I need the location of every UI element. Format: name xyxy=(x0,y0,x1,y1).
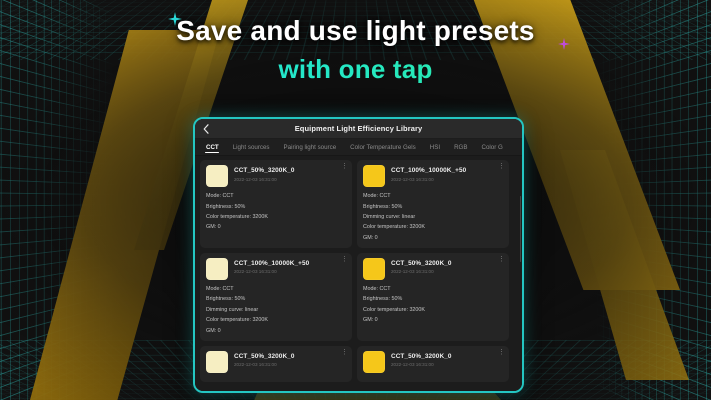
preset-detail-row: Brightness: 50% xyxy=(206,201,346,211)
preset-card[interactable]: CCT_50%_3200K_02022-12-03 16:31:00⋮ xyxy=(200,346,352,382)
tab-color-g[interactable]: Color G xyxy=(474,139,509,155)
color-swatch xyxy=(363,351,385,373)
scrollbar[interactable] xyxy=(520,196,522,262)
tab-label: CCT xyxy=(206,144,219,151)
preset-detail-row: Color temperature: 3200K xyxy=(363,222,503,232)
preset-card-heading-text: CCT_50%_3200K_02022-12-03 16:31:00 xyxy=(234,165,346,182)
preset-detail-rows: Mode: CCTBrightness: 50%Dimming curve: l… xyxy=(206,284,346,336)
color-swatch xyxy=(363,165,385,187)
preset-detail-row: Color temperature: 3200K xyxy=(363,305,503,315)
color-swatch xyxy=(363,258,385,280)
preset-title: CCT_100%_10000K_+50 xyxy=(391,167,503,174)
more-vertical-icon[interactable]: ⋮ xyxy=(341,351,347,355)
preset-timestamp: 2022-12-03 16:31:00 xyxy=(234,362,346,367)
color-swatch xyxy=(206,258,228,280)
preset-detail-rows: Mode: CCTBrightness: 50%Dimming curve: l… xyxy=(363,191,503,243)
preset-card-header: CCT_50%_3200K_02022-12-03 16:31:00 xyxy=(206,165,346,187)
preset-detail-row: Dimming curve: linear xyxy=(206,305,346,315)
chevron-left-icon xyxy=(203,124,209,134)
tab-bar[interactable]: CCTLight sourcesPairing light sourceColo… xyxy=(195,139,522,156)
preset-card-header: CCT_50%_3200K_02022-12-03 16:31:00 xyxy=(206,351,346,373)
preset-card-heading-text: CCT_100%_10000K_+502022-12-03 16:31:00 xyxy=(391,165,503,182)
more-vertical-icon[interactable]: ⋮ xyxy=(498,351,504,355)
preset-detail-row: Color temperature: 3200K xyxy=(206,315,346,325)
preset-card-header: CCT_50%_3200K_02022-12-03 16:31:00 xyxy=(363,258,503,280)
preset-detail-row: Dimming curve: linear xyxy=(363,212,503,222)
tab-label: Pairing light source xyxy=(284,144,337,151)
preset-card-header: CCT_100%_10000K_+502022-12-03 16:31:00 xyxy=(363,165,503,187)
preset-card-header: CCT_50%_3200K_02022-12-03 16:31:00 xyxy=(363,351,503,373)
tab-label: RGB xyxy=(454,144,467,151)
preset-title: CCT_100%_10000K_+50 xyxy=(234,260,346,267)
tab-label: HSI xyxy=(430,144,440,151)
preset-card[interactable]: CCT_100%_10000K_+502022-12-03 16:31:00⋮M… xyxy=(357,160,509,248)
preset-card-heading-text: CCT_50%_3200K_02022-12-03 16:31:00 xyxy=(391,258,503,275)
color-swatch xyxy=(206,351,228,373)
preset-title: CCT_50%_3200K_0 xyxy=(391,260,503,267)
preset-detail-row: Mode: CCT xyxy=(363,284,503,294)
preset-detail-row: Brightness: 50% xyxy=(363,294,503,304)
more-vertical-icon[interactable]: ⋮ xyxy=(498,258,504,262)
preset-timestamp: 2022-12-03 16:31:00 xyxy=(391,362,503,367)
preset-detail-rows: Mode: CCTBrightness: 50%Color temperatur… xyxy=(363,284,503,326)
more-vertical-icon[interactable]: ⋮ xyxy=(341,165,347,169)
preset-card-heading-text: CCT_100%_10000K_+502022-12-03 16:31:00 xyxy=(234,258,346,275)
sparkle-icon-left xyxy=(168,12,182,26)
preset-detail-row: Mode: CCT xyxy=(206,284,346,294)
tab-pairing-light-source[interactable]: Pairing light source xyxy=(277,139,344,155)
preset-card-heading-text: CCT_50%_3200K_02022-12-03 16:31:00 xyxy=(234,351,346,368)
preset-card-header: CCT_100%_10000K_+502022-12-03 16:31:00 xyxy=(206,258,346,280)
tab-label: Light sources xyxy=(233,144,270,151)
headline-line-2: with one tap xyxy=(0,55,711,84)
preset-detail-rows: Mode: CCTBrightness: 50%Color temperatur… xyxy=(206,191,346,233)
tab-color-temperature-gels[interactable]: Color Temperature Gels xyxy=(343,139,423,155)
preset-timestamp: 2022-12-03 16:31:00 xyxy=(391,177,503,182)
color-swatch xyxy=(206,165,228,187)
headline-line-1: Save and use light presets xyxy=(0,16,711,47)
preset-card[interactable]: CCT_50%_3200K_02022-12-03 16:31:00⋮Mode:… xyxy=(200,160,352,248)
tab-hsi[interactable]: HSI xyxy=(423,139,447,155)
preset-card-heading-text: CCT_50%_3200K_02022-12-03 16:31:00 xyxy=(391,351,503,368)
preset-title: CCT_50%_3200K_0 xyxy=(234,353,346,360)
back-button[interactable] xyxy=(195,119,217,138)
preset-detail-row: GM: 0 xyxy=(363,233,503,243)
tab-label: Color Temperature Gels xyxy=(350,144,416,151)
preset-detail-row: GM: 0 xyxy=(363,315,503,325)
preset-detail-row: Brightness: 50% xyxy=(206,294,346,304)
tab-cct[interactable]: CCT xyxy=(199,139,226,155)
preset-timestamp: 2022-12-03 16:31:00 xyxy=(234,269,346,274)
more-vertical-icon[interactable]: ⋮ xyxy=(498,165,504,169)
sparkle-icon-right xyxy=(558,38,570,50)
app-window: Equipment Light Efficiency Library CCTLi… xyxy=(193,117,524,393)
preset-card[interactable]: CCT_50%_3200K_02022-12-03 16:31:00⋮ xyxy=(357,346,509,382)
preset-title: CCT_50%_3200K_0 xyxy=(234,167,346,174)
page-title: Equipment Light Efficiency Library xyxy=(195,124,522,133)
tab-active-indicator xyxy=(205,152,219,154)
preset-detail-row: Color temperature: 3200K xyxy=(206,212,346,222)
tab-rgb[interactable]: RGB xyxy=(447,139,474,155)
preset-title: CCT_50%_3200K_0 xyxy=(391,353,503,360)
preset-detail-row: GM: 0 xyxy=(206,222,346,232)
preset-card-list[interactable]: CCT_50%_3200K_02022-12-03 16:31:00⋮Mode:… xyxy=(195,156,522,393)
preset-detail-row: Mode: CCT xyxy=(206,191,346,201)
preset-detail-row: Mode: CCT xyxy=(363,191,503,201)
preset-detail-row: GM: 0 xyxy=(206,325,346,335)
tab-light-sources[interactable]: Light sources xyxy=(226,139,277,155)
preset-timestamp: 2022-12-03 16:31:00 xyxy=(234,177,346,182)
app-titlebar: Equipment Light Efficiency Library xyxy=(195,119,522,139)
preset-card[interactable]: CCT_50%_3200K_02022-12-03 16:31:00⋮Mode:… xyxy=(357,253,509,341)
preset-detail-row: Brightness: 50% xyxy=(363,201,503,211)
preset-card[interactable]: CCT_100%_10000K_+502022-12-03 16:31:00⋮M… xyxy=(200,253,352,341)
tab-label: Color G xyxy=(481,144,502,151)
more-vertical-icon[interactable]: ⋮ xyxy=(341,258,347,262)
preset-timestamp: 2022-12-03 16:31:00 xyxy=(391,269,503,274)
promo-headline: Save and use light presets with one tap xyxy=(0,16,711,83)
